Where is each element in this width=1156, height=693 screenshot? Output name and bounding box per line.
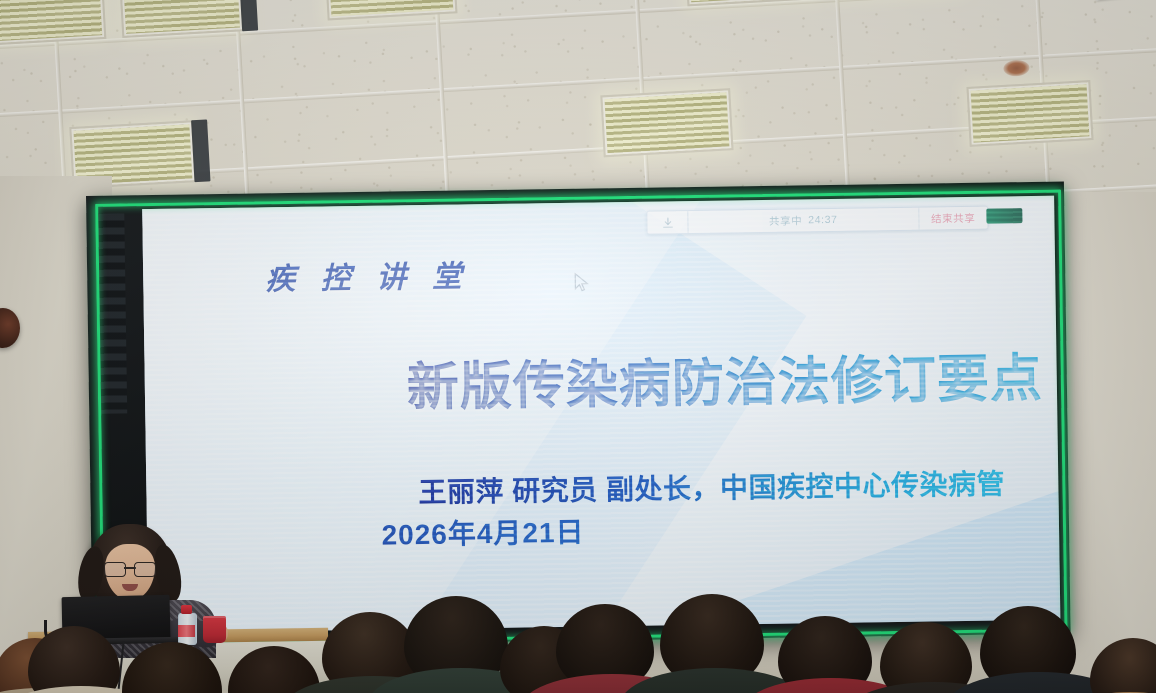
ceiling-light	[966, 80, 1093, 147]
screenshot-stage: 共享中 24:37 结束共享 疾 控 讲 堂 新版传染病防治法修订要点 王丽萍 …	[0, 0, 1156, 693]
share-status: 共享中 24:37	[688, 211, 918, 229]
slide-subtitle: 王丽萍 研究员 副处长，中国疾控中心传染病管	[418, 462, 1005, 511]
arrow-cursor	[573, 273, 589, 293]
audience-head	[1090, 638, 1156, 693]
screen-share-toolbar[interactable]: 共享中 24:37 结束共享	[646, 206, 988, 235]
ceiling-light	[0, 0, 106, 46]
screen-vents	[98, 213, 127, 413]
share-timer: 24:37	[808, 214, 837, 226]
audience	[0, 560, 1156, 693]
slide-kicker: 疾 控 讲 堂	[265, 251, 471, 298]
audience-head	[28, 626, 120, 693]
share-status-label: 共享中	[769, 213, 803, 228]
stop-sharing-button[interactable]: 结束共享	[918, 207, 988, 230]
audience-head	[122, 642, 222, 693]
ceiling-light	[600, 88, 733, 157]
share-toolbar-tail	[986, 208, 1022, 224]
download-icon[interactable]	[647, 211, 688, 234]
slide-title: 新版传染病防治法修订要点	[406, 336, 1043, 420]
